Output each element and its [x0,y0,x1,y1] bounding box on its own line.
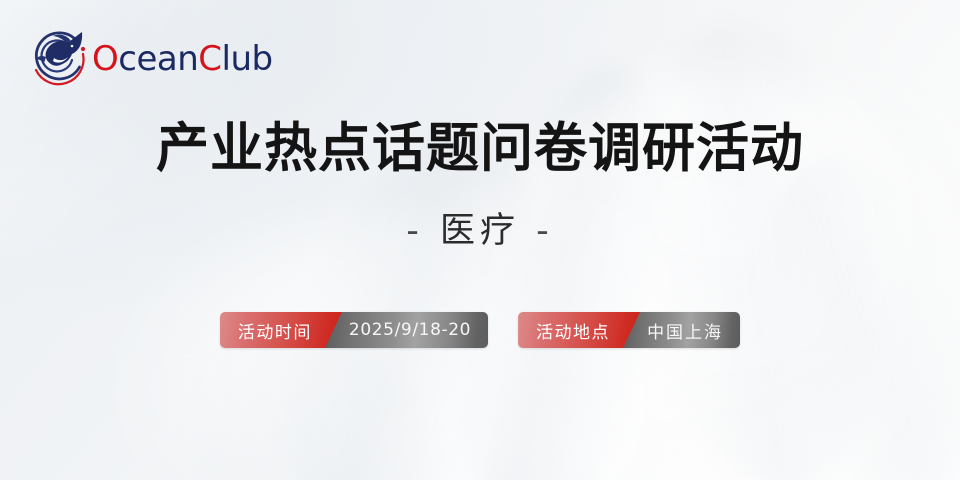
subtitle-dash-right: - [536,211,554,251]
brand-logo-text: OceanClub [92,42,273,76]
marlin-fish-logo-icon [28,27,90,89]
event-banner: OceanClub 产业热点话题问卷调研活动 - 医疗 - 活动时间 2025/… [0,0,960,480]
headings-block: 产业热点话题问卷调研活动 - 医疗 - [0,118,960,249]
event-time-label: 活动时间 [220,312,342,348]
subtitle-dash-left: - [406,211,424,251]
event-time-badge: 活动时间 2025/9/18-20 [220,312,488,348]
event-location-label: 活动地点 [518,312,640,348]
background-blob [475,30,960,480]
logo-text-lub: lub [222,39,273,79]
logo-text-c: C [198,39,221,79]
event-time-value: 2025/9/18-20 [325,312,488,348]
logo-text-o: O [92,39,118,79]
event-location-badge: 活动地点 中国上海 [518,312,740,348]
page-subtitle: - 医疗 - [0,214,960,249]
logo-text-cean: cean [118,39,198,79]
background-sweep [423,45,707,480]
subtitle-text: 医疗 [440,211,520,251]
page-title: 产业热点话题问卷调研活动 [0,118,960,181]
brand-logo[interactable]: OceanClub [28,26,273,90]
info-badges: 活动时间 2025/9/18-20 活动地点 中国上海 [0,312,960,348]
event-location-value: 中国上海 [623,312,740,348]
